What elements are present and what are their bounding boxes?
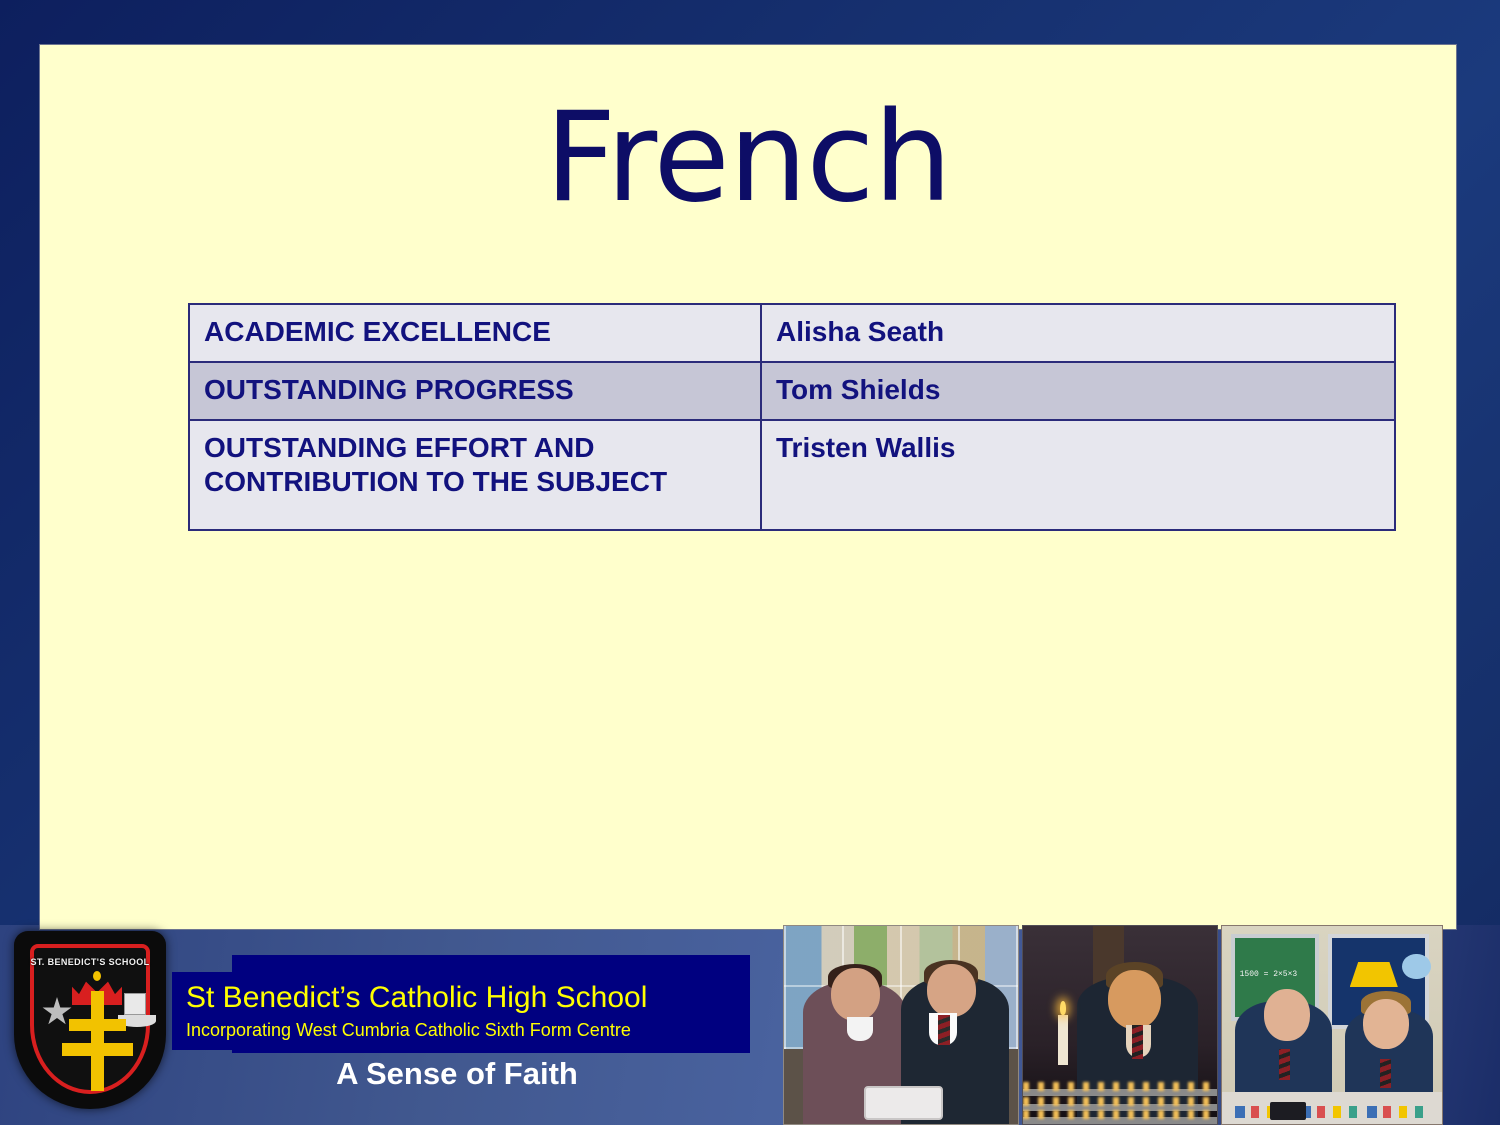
student-a-collar [847,1017,873,1041]
candle-flame-icon [1060,1001,1066,1015]
student-head [1108,970,1160,1029]
award-recipient: Tristen Wallis [761,420,1395,530]
candle-flames-row [1023,1097,1217,1106]
stationery-items [1235,1106,1429,1118]
student-b-head [927,964,976,1017]
candle-flames-row [1023,1082,1217,1091]
table-row: ACADEMIC EXCELLENCE Alisha Seath [189,304,1395,362]
table-row: OUTSTANDING PROGRESS Tom Shields [189,362,1395,420]
candle-flames-row [1023,1110,1217,1119]
student-tie [1132,1025,1144,1059]
student-boy-head [1363,999,1409,1049]
school-name-banner: St Benedict’s Catholic High School Incor… [172,972,742,1050]
school-tagline: A Sense of Faith [172,1056,742,1092]
footer-photo-strip: 1500 = 2×5×3 [783,925,1443,1125]
award-category: OUTSTANDING EFFORT AND CONTRIBUTION TO T… [189,420,761,530]
votive-candle-rack [1023,1057,1217,1124]
crest-shield-shape: ST. BENEDICT'S SCHOOL [14,931,166,1109]
student-b-tie [938,1015,950,1045]
school-name-text: St Benedict’s Catholic High School [186,981,647,1015]
calculator-device [1270,1102,1305,1120]
crest-motto-text: ST. BENEDICT'S SCHOOL [14,957,166,967]
cross-icon-vertical [91,991,104,1091]
table-row: OUTSTANDING EFFORT AND CONTRIBUTION TO T… [189,420,1395,530]
photo-student-candles [1022,925,1218,1125]
school-subtitle-text: Incorporating West Cumbria Catholic Sixt… [186,1020,631,1041]
cross-icon-upper-bar [69,1019,126,1031]
crown-orb-icon [93,971,101,981]
presentation-slide: French ACADEMIC EXCELLENCE Alisha Seath … [0,0,1500,1125]
cross-icon-lower-bar [62,1043,133,1056]
page-title: French [40,93,1456,223]
student-a-head [831,968,880,1021]
award-recipient: Alisha Seath [761,304,1395,362]
student-girl-tie [1279,1049,1290,1081]
photo-students-classroom: 1500 = 2×5×3 [1221,925,1443,1125]
slide-content-panel: French ACADEMIC EXCELLENCE Alisha Seath … [40,45,1456,929]
student-girl-head [1264,989,1310,1040]
student-boy-tie [1380,1059,1391,1089]
award-category: OUTSTANDING PROGRESS [189,362,761,420]
photo-students-tablet [783,925,1019,1125]
tablet-device [864,1086,944,1120]
school-crest-logo: ST. BENEDICT'S SCHOOL [6,925,176,1117]
ship-sail [124,993,146,1015]
awards-table: ACADEMIC EXCELLENCE Alisha Seath OUTSTAN… [188,303,1396,531]
equation-text: 1500 = 2×5×3 [1240,970,1298,979]
award-recipient: Tom Shields [761,362,1395,420]
award-category: ACADEMIC EXCELLENCE [189,304,761,362]
